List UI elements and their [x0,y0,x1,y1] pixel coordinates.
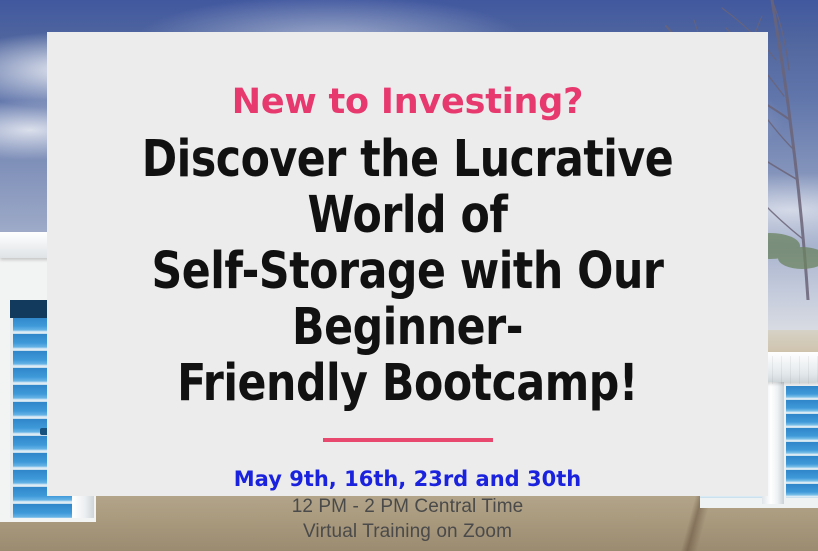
content-card: New to Investing? Discover the Lucrative… [47,32,768,496]
section-divider [323,438,493,442]
content-card-body: New to Investing? Discover the Lucrative… [47,82,768,551]
storage-door-right-2 [786,386,818,498]
headline-line-3: Friendly Bootcamp! [95,356,721,412]
headline-line-2: Self-Storage with Our Beginner- [95,244,721,356]
headline-line-1: Discover the Lucrative World of [95,132,721,244]
promo-banner: New to Investing? Discover the Lucrative… [0,0,818,551]
eyebrow-heading: New to Investing? [71,82,744,122]
event-dates: May 9th, 16th, 23rd and 30th [71,466,744,492]
event-format: Virtual Training on Zoom [71,519,744,544]
event-time: 12 PM - 2 PM Central Time [71,494,744,519]
event-details: May 9th, 16th, 23rd and 30th 12 PM - 2 P… [71,466,744,551]
divider-wrapper [71,438,744,442]
page-title: Discover the Lucrative World of Self-Sto… [95,132,721,412]
